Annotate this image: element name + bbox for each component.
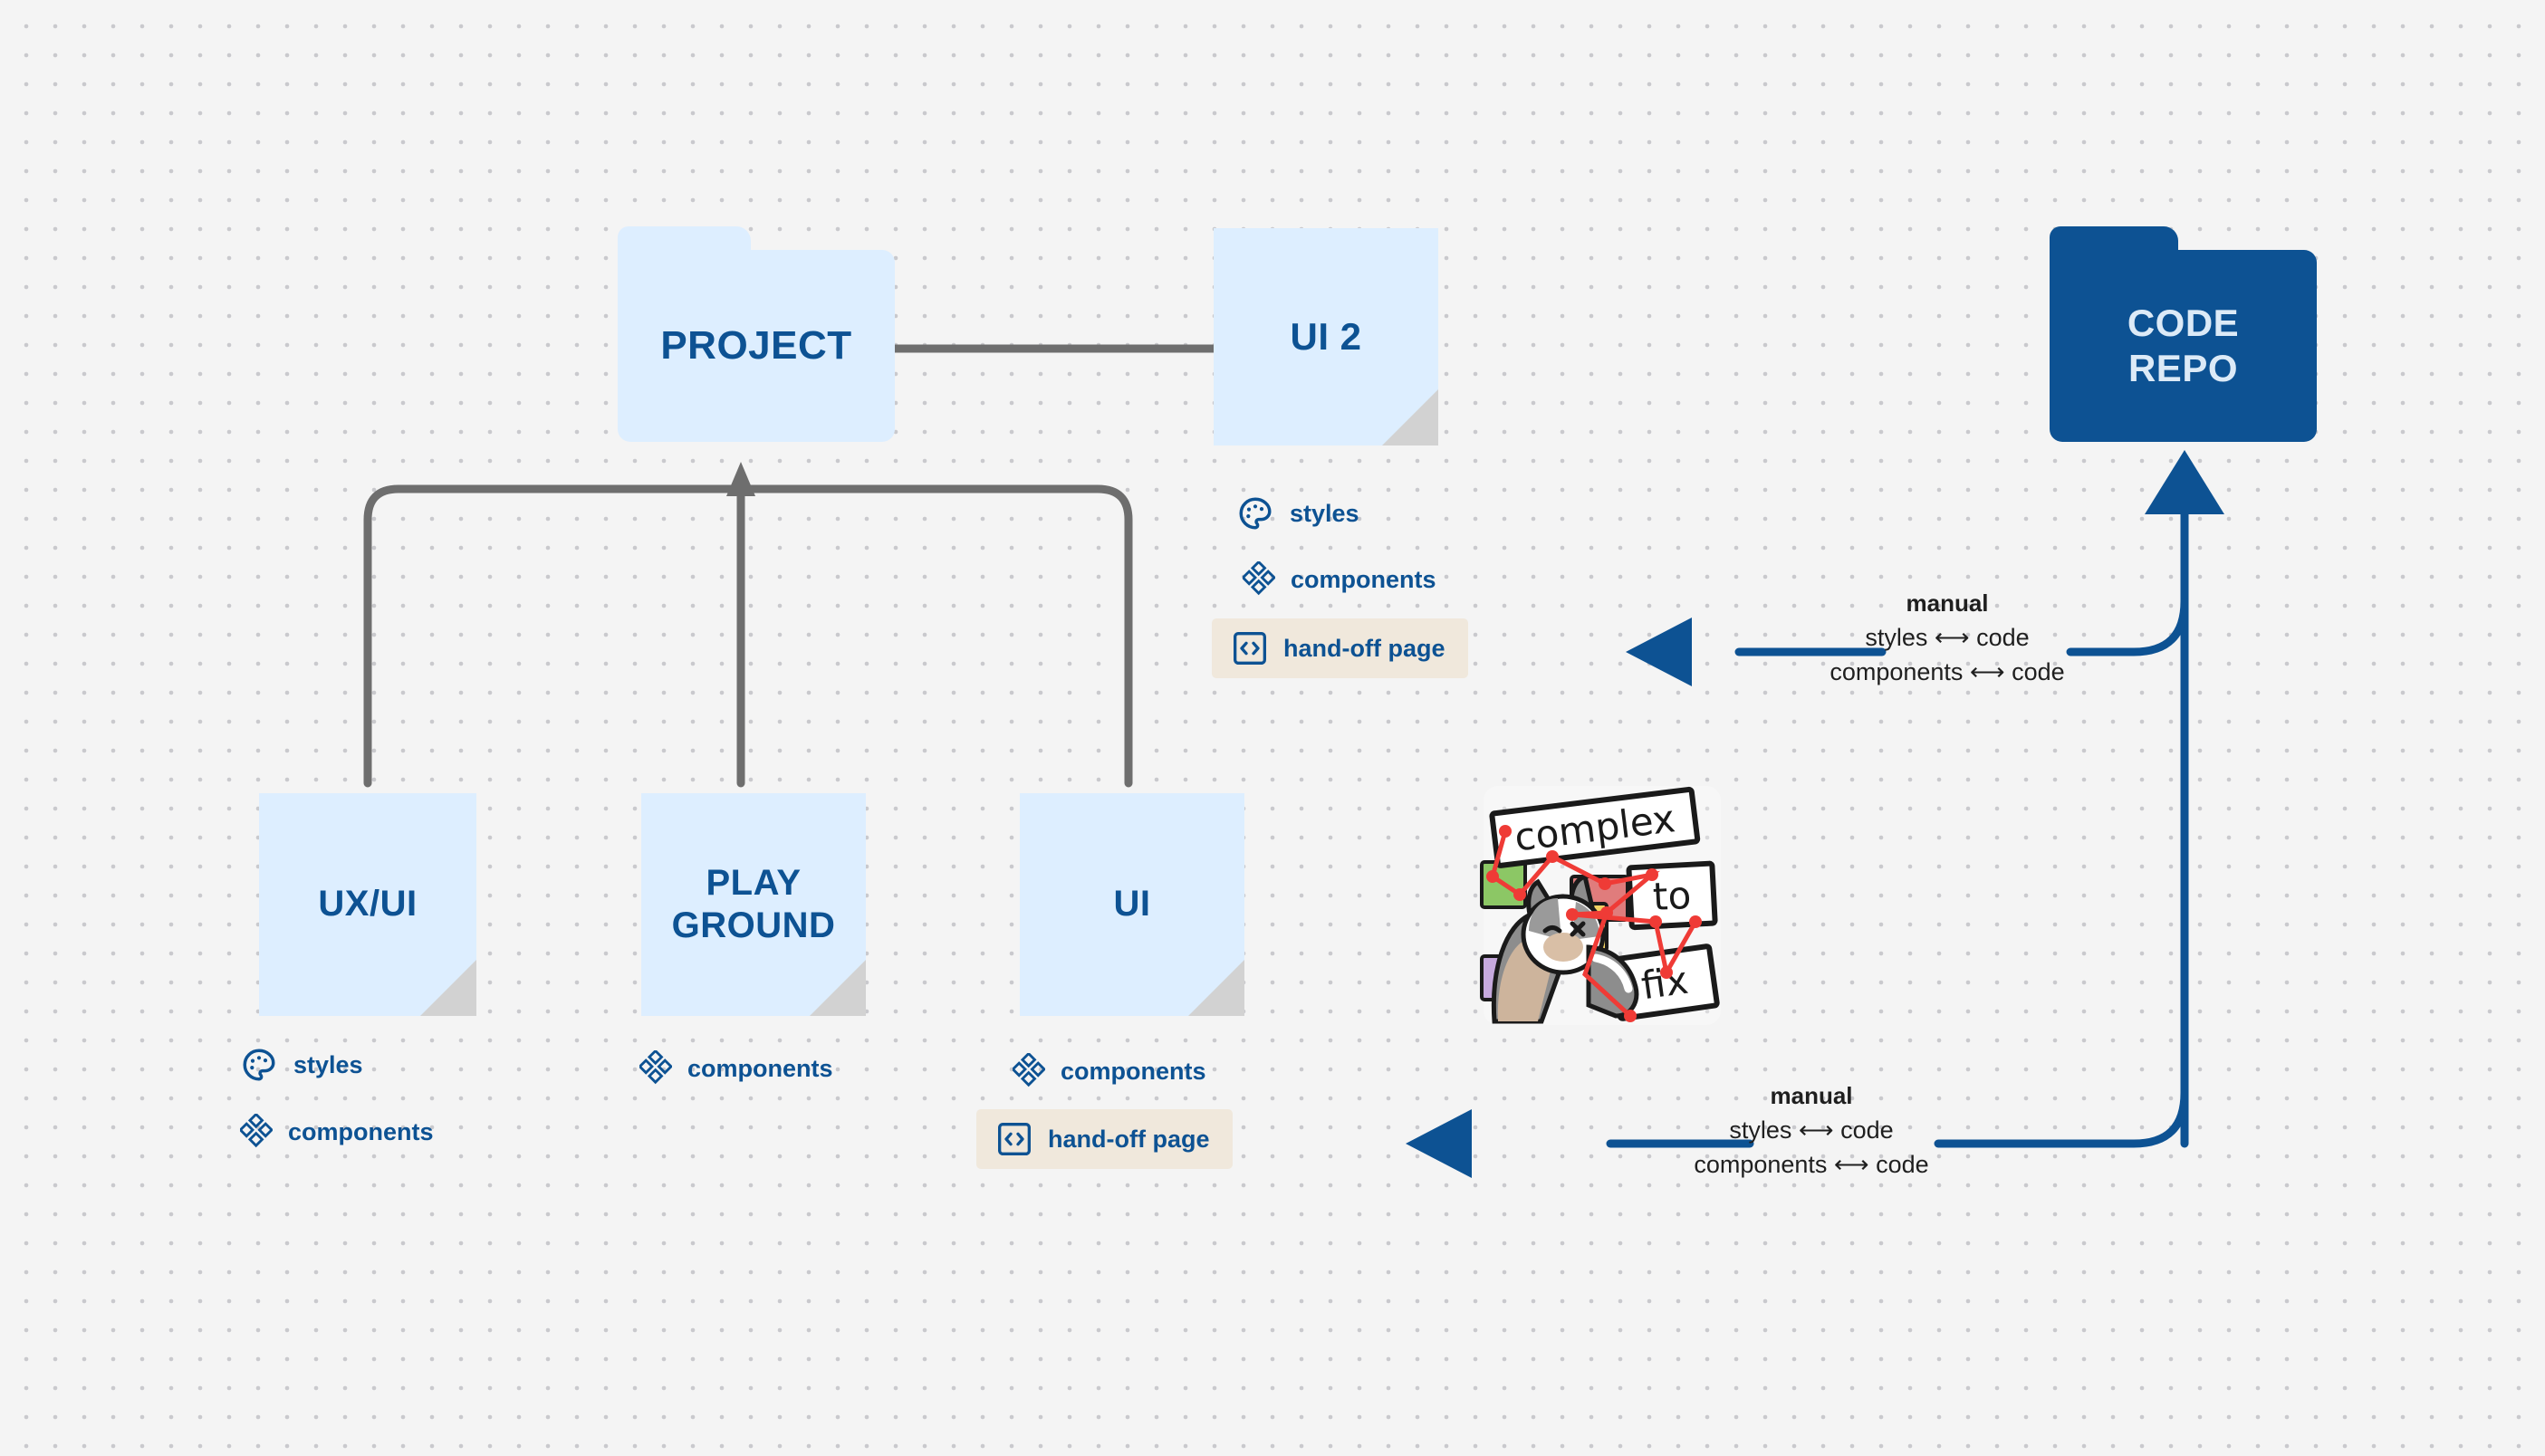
meta-uxui-styles-label: styles (293, 1051, 363, 1079)
annotation-manual-bottom-title: manual (1630, 1079, 1993, 1113)
connector-project-uxui (368, 485, 741, 783)
palette-icon (240, 1046, 278, 1084)
connector-arrowhead-project (726, 462, 755, 496)
meta-ui2-handoff[interactable]: hand-off page (1212, 618, 1468, 678)
page-fold-corner (810, 960, 866, 1016)
connector-project-ui (741, 485, 1128, 783)
meta-uxui-components[interactable]: components (240, 1114, 434, 1150)
node-uxui[interactable]: UX/UI (259, 793, 476, 1016)
meta-ui2-components[interactable]: components (1243, 561, 1436, 598)
diagram-canvas: PROJECT UI 2 CODE REPO UX/UI PLAY GROUND… (0, 0, 2545, 1456)
node-project-label: PROJECT (660, 322, 851, 369)
gray-connectors (0, 0, 2545, 1456)
node-playground[interactable]: PLAY GROUND (641, 793, 866, 1016)
node-playground-label: PLAY GROUND (672, 862, 836, 947)
node-ui-label: UI (1114, 883, 1151, 925)
node-uxui-label: UX/UI (318, 883, 417, 925)
components-icon (1243, 561, 1275, 598)
annotation-manual-top: manual styles ⟷ code components ⟷ code (1757, 587, 2137, 690)
meta-playground-components[interactable]: components (639, 1050, 833, 1087)
annotation-manual-top-line2: components ⟷ code (1757, 655, 2137, 689)
annotation-manual-bottom-line1: styles ⟷ code (1630, 1113, 1993, 1147)
meta-ui-components[interactable]: components (1013, 1053, 1206, 1089)
components-icon (240, 1114, 273, 1150)
code-brackets-icon (1232, 630, 1268, 666)
meta-ui2-styles-label: styles (1290, 500, 1359, 528)
meta-uxui-components-label: components (288, 1118, 434, 1146)
meta-playground-components-label: components (687, 1055, 833, 1083)
node-project[interactable]: PROJECT (618, 250, 895, 442)
meta-ui2-components-label: components (1291, 566, 1436, 594)
palette-icon (1236, 494, 1274, 532)
page-fold-corner (420, 960, 476, 1016)
node-ui2[interactable]: UI 2 (1214, 228, 1438, 445)
annotation-manual-top-line1: styles ⟷ code (1757, 620, 2137, 655)
node-ui2-label: UI 2 (1290, 314, 1361, 359)
meta-ui-handoff[interactable]: hand-off page (976, 1109, 1233, 1169)
components-icon (639, 1050, 672, 1087)
arrowhead-code-repo (2145, 450, 2224, 514)
page-fold-corner (1382, 389, 1438, 445)
meta-ui2-handoff-label: hand-off page (1283, 635, 1445, 663)
arrowhead-ui2-handoff (1626, 618, 1692, 686)
sticker-art: complex to fix (1478, 779, 1727, 1032)
node-code-repo[interactable]: CODE REPO (2050, 250, 2317, 442)
page-fold-corner (1188, 960, 1244, 1016)
meta-ui-components-label: components (1061, 1058, 1206, 1086)
annotation-manual-top-title: manual (1757, 587, 2137, 620)
components-icon (1013, 1053, 1045, 1089)
annotation-manual-bottom-line2: components ⟷ code (1630, 1147, 1993, 1182)
meta-uxui-styles[interactable]: styles (240, 1046, 363, 1084)
code-brackets-icon (996, 1121, 1032, 1157)
annotation-manual-bottom: manual styles ⟷ code components ⟷ code (1630, 1079, 1993, 1183)
cat-complex-to-fix-sticker: complex to fix (1478, 779, 1727, 1032)
blue-connectors (0, 0, 2545, 1456)
meta-ui-handoff-label: hand-off page (1048, 1126, 1209, 1154)
arrowhead-ui-handoff (1406, 1109, 1472, 1178)
meta-ui2-styles[interactable]: styles (1236, 494, 1359, 532)
node-ui[interactable]: UI (1020, 793, 1244, 1016)
node-code-repo-label: CODE REPO (2127, 301, 2239, 390)
sticker-word-to: to (1652, 873, 1693, 919)
